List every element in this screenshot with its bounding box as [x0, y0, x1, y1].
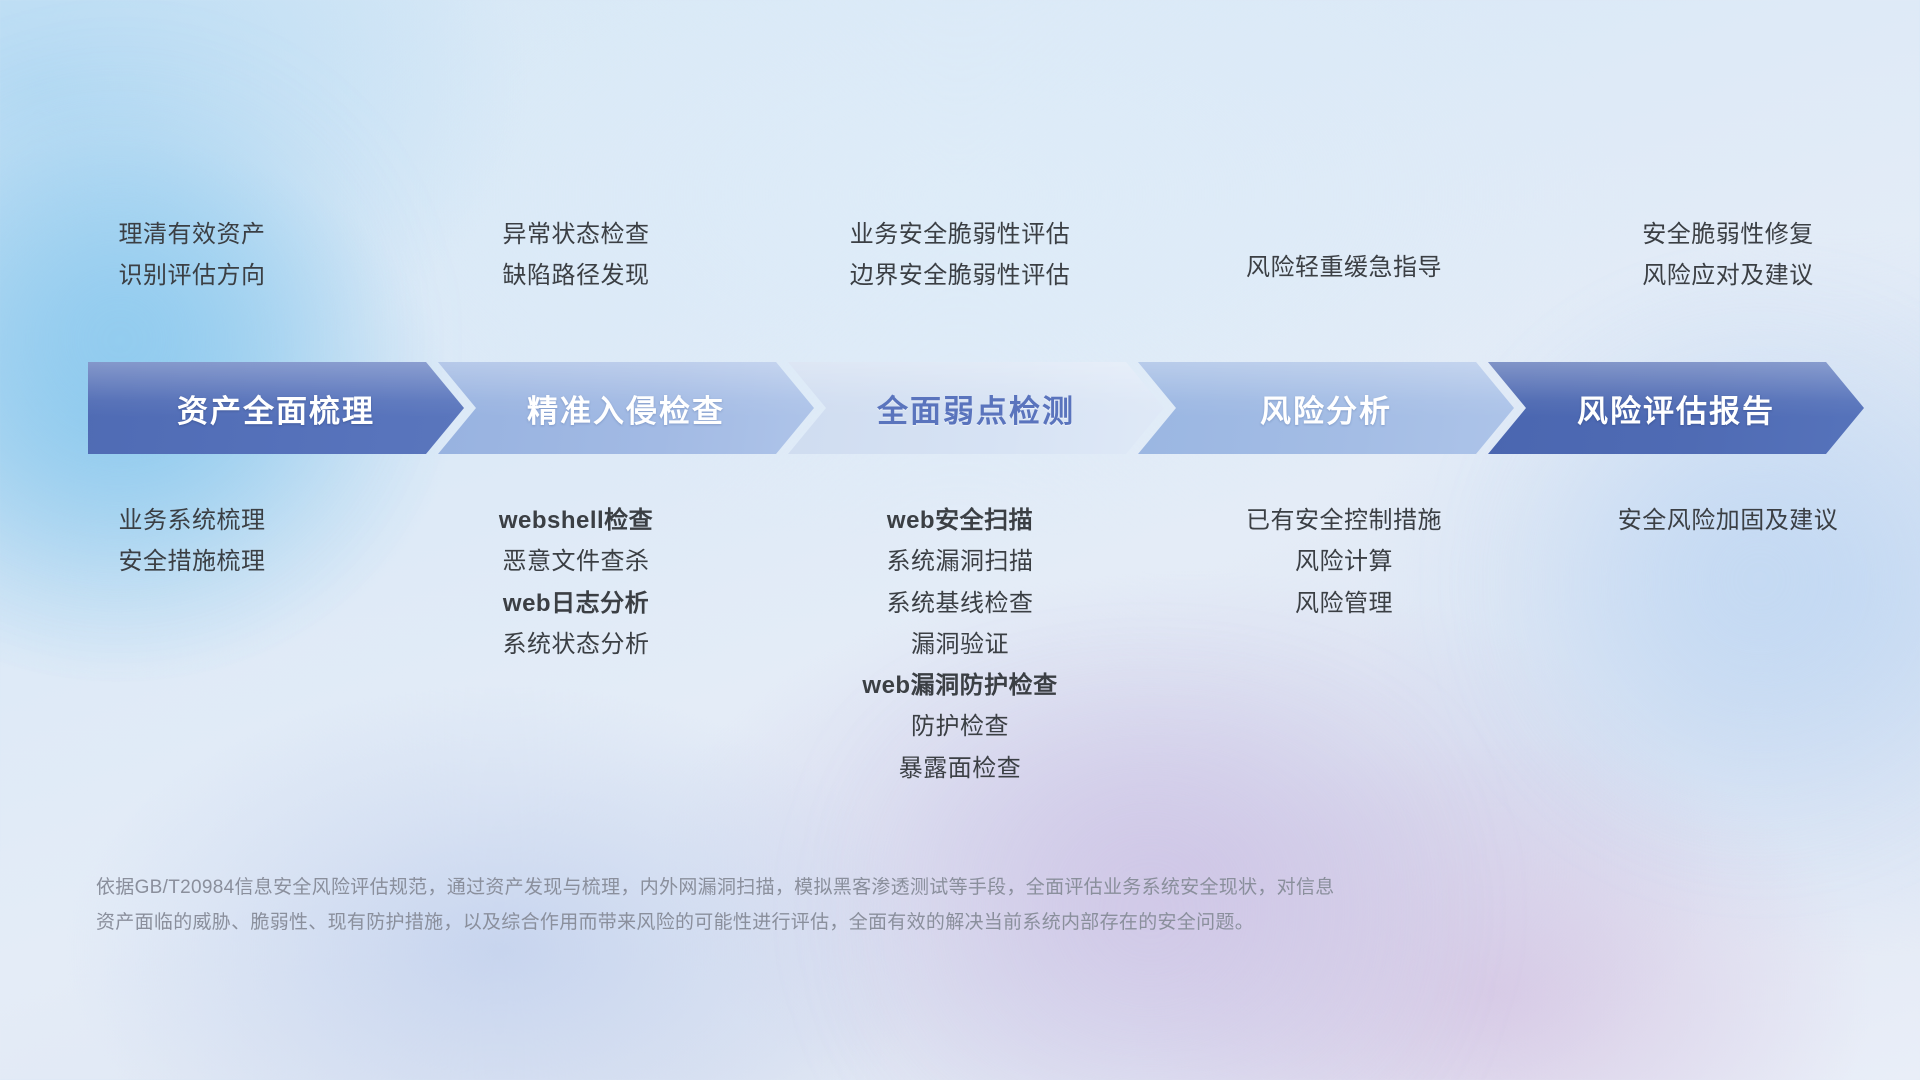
bottom-item: 暴露面检查: [899, 748, 1022, 789]
chevron-label: 精准入侵检查: [527, 386, 725, 431]
top-item: 安全脆弱性修复: [1642, 214, 1814, 255]
top-label-row: 理清有效资产 识别评估方向 异常状态检查 缺陷路径发现 业务安全脆弱性评估 边界…: [0, 214, 1920, 297]
bottom-item: 漏洞验证: [911, 624, 1009, 665]
bottom-item: 安全措施梳理: [119, 541, 266, 582]
bottom-item: 恶意文件查杀: [503, 541, 650, 582]
bottom-item: 已有安全控制措施: [1246, 500, 1442, 541]
bottom-item: 系统状态分析: [503, 624, 650, 665]
chevron-label: 全面弱点检测: [877, 386, 1075, 431]
bottom-column-risk-analysis: 已有安全控制措施 风险计算 风险管理: [1152, 500, 1536, 624]
footer-description: 依据GB/T20984信息安全风险评估规范，通过资产发现与梳理，内外网漏洞扫描，…: [96, 870, 1620, 940]
top-item: 业务安全脆弱性评估: [850, 214, 1071, 255]
bottom-item: 防护检查: [911, 706, 1009, 747]
process-diagram: 理清有效资产 识别评估方向 异常状态检查 缺陷路径发现 业务安全脆弱性评估 边界…: [0, 0, 1920, 1080]
top-item: 识别评估方向: [119, 255, 266, 296]
bottom-column-intrusion-check: webshell检查 恶意文件查杀 web日志分析 系统状态分析: [384, 500, 768, 665]
bottom-item: 安全风险加固及建议: [1618, 500, 1839, 541]
bottom-item: 风险管理: [1295, 583, 1393, 624]
bottom-column-asset-review: 业务系统梳理 安全措施梳理: [0, 500, 384, 583]
bottom-item: 系统基线检查: [887, 583, 1034, 624]
chevron-stage-weakness-detection[interactable]: 全面弱点检测: [788, 362, 1164, 454]
top-item: 边界安全脆弱性评估: [850, 255, 1071, 296]
bottom-item: webshell检查: [499, 500, 653, 541]
bottom-label-row: 业务系统梳理 安全措施梳理 webshell检查 恶意文件查杀 web日志分析 …: [0, 500, 1920, 789]
bottom-column-risk-report: 安全风险加固及建议: [1536, 500, 1920, 541]
footer-line: 资产面临的威胁、脆弱性、现有防护措施，以及综合作用而带来风险的可能性进行评估，全…: [96, 905, 1620, 940]
chevron-label: 风险评估报告: [1577, 386, 1775, 431]
top-column-risk-analysis: 风险轻重缓急指导: [1152, 214, 1536, 297]
top-column-asset-review: 理清有效资产 识别评估方向: [0, 214, 384, 297]
chevron-stage-risk-report[interactable]: 风险评估报告: [1488, 362, 1864, 454]
footer-line: 依据GB/T20984信息安全风险评估规范，通过资产发现与梳理，内外网漏洞扫描，…: [96, 870, 1620, 905]
top-item: 异常状态检查: [503, 214, 650, 255]
bottom-column-weakness-detection: web安全扫描 系统漏洞扫描 系统基线检查 漏洞验证 web漏洞防护检查 防护检…: [768, 500, 1152, 789]
top-column-risk-report: 安全脆弱性修复 风险应对及建议: [1536, 214, 1920, 297]
top-item: 缺陷路径发现: [503, 255, 650, 296]
bottom-item: web安全扫描: [887, 500, 1033, 541]
chevron-stage-asset-review[interactable]: 资产全面梳理: [88, 362, 464, 454]
chevron-stage-intrusion-check[interactable]: 精准入侵检查: [438, 362, 814, 454]
chevron-label: 资产全面梳理: [177, 386, 375, 431]
top-item: 理清有效资产: [119, 214, 266, 255]
bottom-item: 风险计算: [1295, 541, 1393, 582]
chevron-stage-risk-analysis[interactable]: 风险分析: [1138, 362, 1514, 454]
chevron-label: 风险分析: [1260, 386, 1392, 431]
top-item: 风险轻重缓急指导: [1246, 247, 1442, 288]
bottom-item: 业务系统梳理: [119, 500, 266, 541]
bottom-item: web漏洞防护检查: [862, 665, 1057, 706]
top-column-weakness-detection: 业务安全脆弱性评估 边界安全脆弱性评估: [768, 214, 1152, 297]
bottom-item: 系统漏洞扫描: [887, 541, 1034, 582]
top-column-intrusion-check: 异常状态检查 缺陷路径发现: [384, 214, 768, 297]
top-item: 风险应对及建议: [1642, 255, 1814, 296]
stage-chevron-banner: 资产全面梳理 精准入侵检查 全面弱点检测 风险分析 风险评估报告: [88, 362, 1864, 454]
bottom-item: web日志分析: [503, 583, 649, 624]
